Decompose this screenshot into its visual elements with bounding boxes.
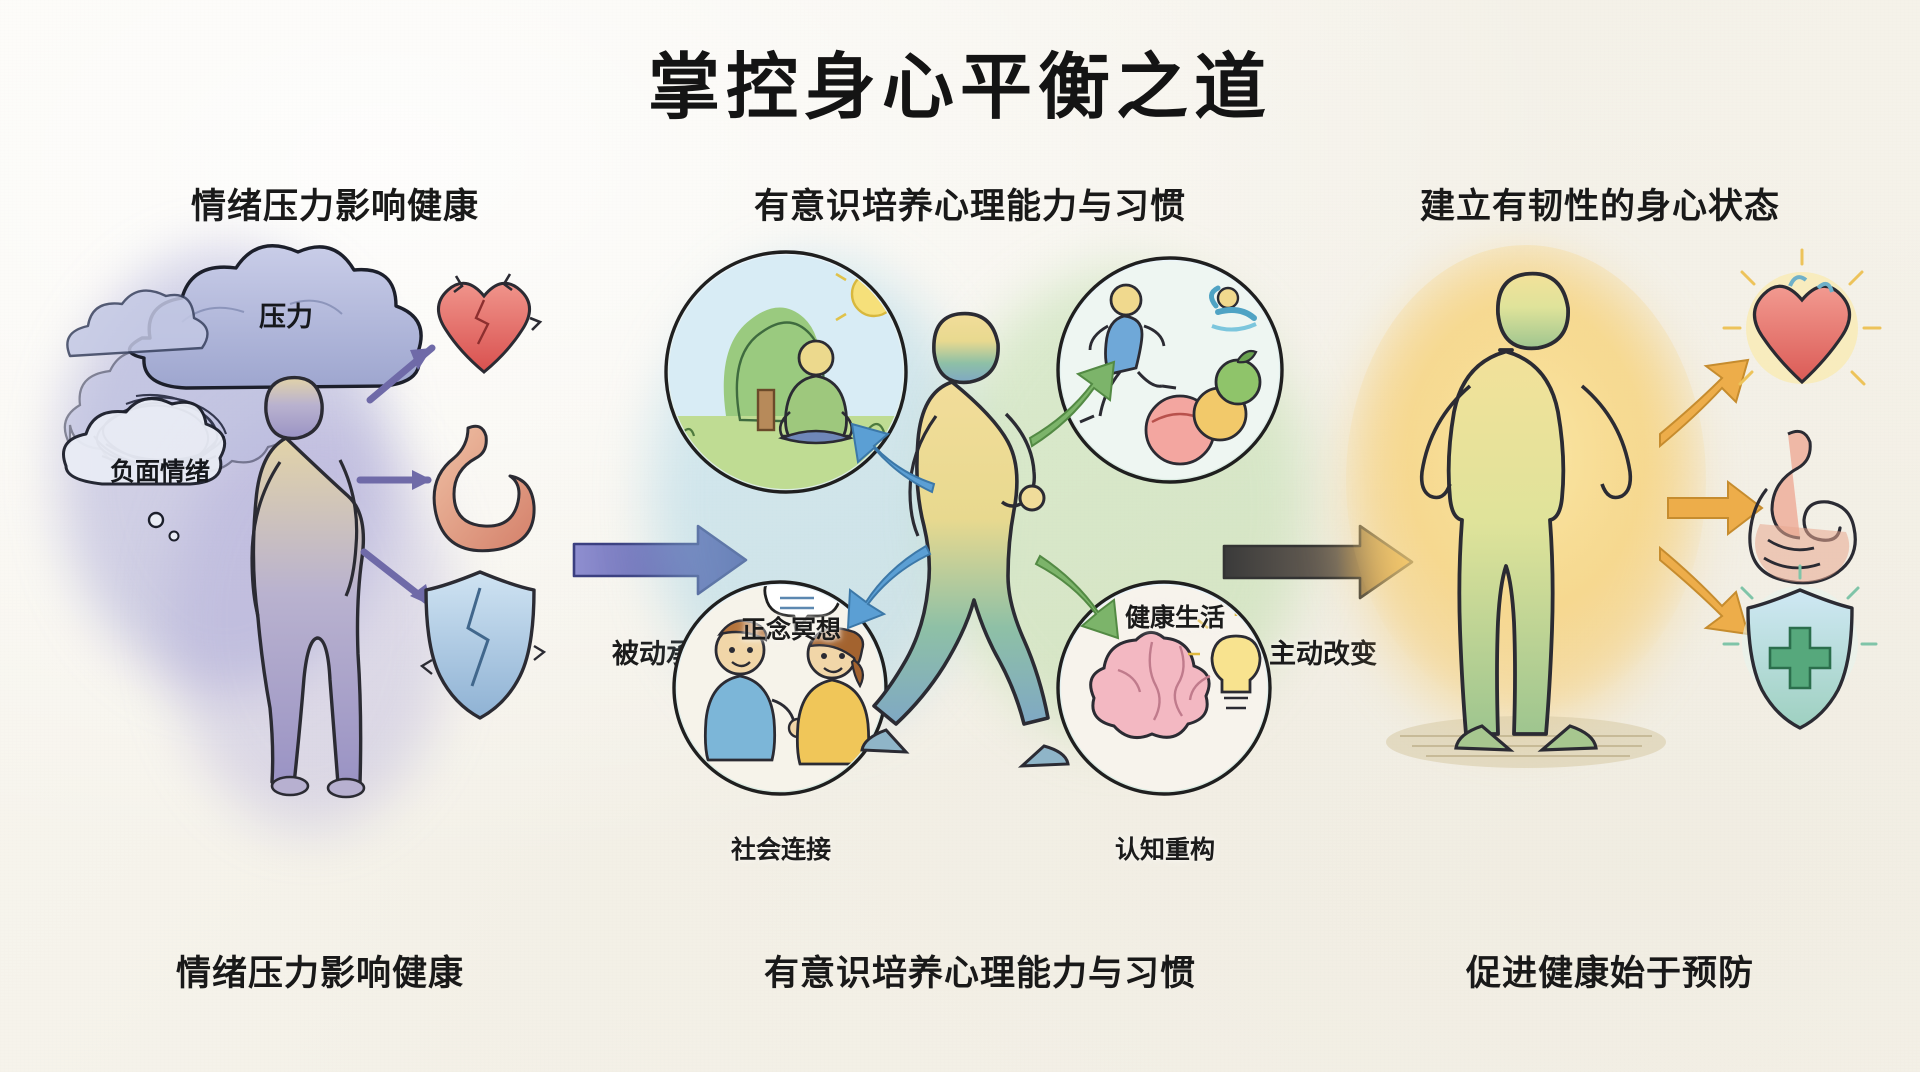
stress-arrow-to-stomach: [360, 470, 432, 490]
person-right: [797, 628, 868, 764]
stress-cloud-small: [67, 291, 207, 356]
column-header-stress: 情绪压力影响健康: [55, 178, 615, 229]
column-header-practice: 有意识培养心理能力与习惯: [620, 178, 1320, 229]
column-header-resilience: 建立有韧性的身心状态: [1320, 178, 1880, 229]
cloud-label-negative-emotion: 负面情绪: [70, 452, 250, 488]
bubble-mindfulness: [666, 252, 912, 496]
column-caption-resilience: 促进健康始于预防: [1330, 945, 1890, 996]
cloud-label-stress: 压力: [216, 295, 356, 334]
bubble-label-mindfulness: 正念冥想: [706, 610, 876, 646]
page-title: 掌控身心平衡之道: [0, 28, 1920, 133]
column-caption-stress: 情绪压力影响健康: [40, 945, 600, 996]
shield-icon-with-cross: [1724, 566, 1876, 728]
panel-stress: 压力 负面情绪: [40, 230, 600, 870]
bubble-label-social: 社会连接: [696, 830, 866, 866]
infographic-canvas: 掌控身心平衡之道 情绪压力影响健康 有意识培养心理能力与习惯 建立有韧性的身心状…: [0, 0, 1920, 1072]
digestive-system-icon-healthy: [1750, 431, 1855, 582]
stomach-icon-inflamed: [434, 426, 534, 551]
panel-resilience: [1330, 230, 1890, 880]
shield-icon-cracked: [422, 572, 544, 718]
column-caption-practice: 有意识培养心理能力与习惯: [630, 945, 1330, 996]
heart-icon-cracked: [438, 274, 540, 372]
bubble-label-reframing: 认知重构: [1080, 830, 1250, 866]
stress-arrow-to-shield: [364, 552, 432, 606]
resilience-illustration: [1330, 230, 1890, 880]
